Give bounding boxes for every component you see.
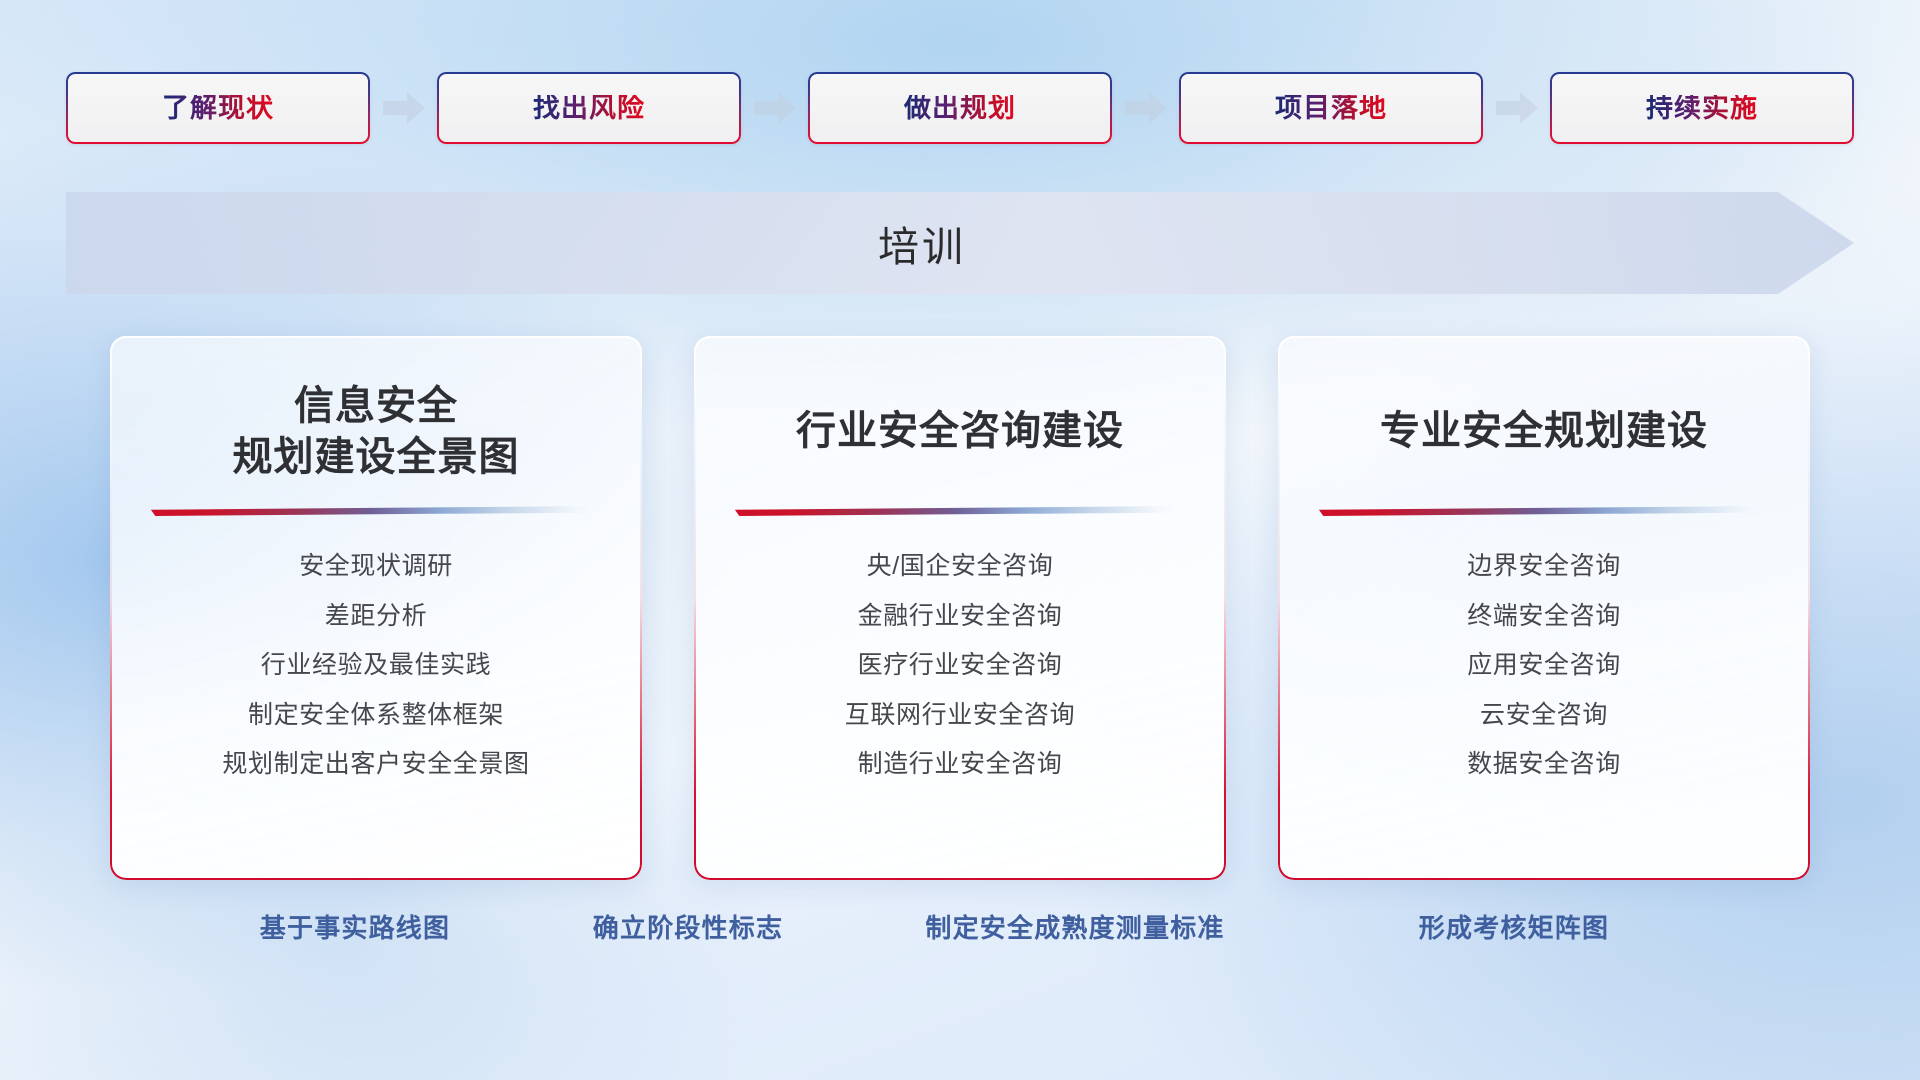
banner-title: 培训 (66, 192, 1778, 294)
footer-label-maturity: 制定安全成熟度测量标准 (925, 908, 1224, 945)
card-item-list: 安全现状调研 差距分析 行业经验及最佳实践 制定安全体系整体框架 规划制定出客户… (136, 550, 616, 782)
list-item: 央/国企安全咨询 (867, 550, 1054, 584)
card-divider-bar (150, 506, 592, 516)
step-chip-5[interactable]: 持续实施 (1550, 72, 1854, 144)
step-arrow-icon-3 (1125, 91, 1167, 125)
card-item-list: 边界安全咨询 终端安全咨询 应用安全咨询 云安全咨询 数据安全咨询 (1304, 550, 1784, 782)
step-chip-2[interactable]: 找出风险 (437, 72, 741, 144)
training-banner: 培训 (66, 192, 1854, 294)
footer-label-roadmap: 基于事实路线图 (260, 908, 450, 945)
list-item: 制造行业安全咨询 (858, 748, 1063, 782)
footer-label-matrix: 形成考核矩阵图 (1419, 908, 1609, 945)
footer-label-milestones: 确立阶段性标志 (593, 908, 783, 945)
card-row: 信息安全 规划建设全景图 安全现状调研 差距分析 行业经验及最佳实践 制定安全体… (110, 336, 1810, 880)
list-item: 行业经验及最佳实践 (261, 649, 491, 683)
step-arrow-icon-1 (383, 91, 425, 125)
card-title-line: 行业安全咨询建设 (720, 406, 1200, 457)
card-divider-bar (734, 506, 1176, 516)
card-panorama[interactable]: 信息安全 规划建设全景图 安全现状调研 差距分析 行业经验及最佳实践 制定安全体… (110, 336, 642, 880)
footer-label-row: 基于事实路线图 确立阶段性标志 制定安全成熟度测量标准 形成考核矩阵图 (110, 908, 1810, 956)
card-title: 信息安全 规划建设全景图 (136, 380, 616, 484)
infographic-canvas: 了解现状 找出风险 做出规划 项目落地 (0, 0, 1920, 1080)
card-title-line: 专业安全规划建设 (1304, 406, 1784, 457)
step-label: 项目落地 (1275, 95, 1387, 122)
card-divider-bar (1318, 506, 1760, 516)
step-chip-4[interactable]: 项目落地 (1179, 72, 1483, 144)
list-item: 终端安全咨询 (1467, 600, 1621, 634)
step-arrow-icon-4 (1496, 91, 1538, 125)
card-title: 专业安全规划建设 (1304, 380, 1784, 484)
card-divider (150, 506, 592, 516)
step-label: 了解现状 (162, 95, 274, 122)
card-professional-planning[interactable]: 专业安全规划建设 边界安全咨询 终端安全咨询 应用安全咨询 云安全咨询 数据安全… (1278, 336, 1810, 880)
step-label: 持续实施 (1646, 95, 1758, 122)
step-label: 做出规划 (904, 95, 1016, 122)
step-arrow-icon-2 (754, 91, 796, 125)
card-title-line: 信息安全 (136, 381, 616, 432)
step-chip-1[interactable]: 了解现状 (66, 72, 370, 144)
list-item: 数据安全咨询 (1467, 748, 1621, 782)
card-title-line: 规划建设全景图 (136, 432, 616, 483)
list-item: 云安全咨询 (1480, 699, 1608, 733)
process-step-row: 了解现状 找出风险 做出规划 项目落地 (66, 72, 1854, 144)
list-item: 安全现状调研 (299, 550, 453, 584)
list-item: 制定安全体系整体框架 (248, 699, 504, 733)
list-item: 边界安全咨询 (1467, 550, 1621, 584)
card-title: 行业安全咨询建设 (720, 380, 1200, 484)
list-item: 差距分析 (325, 600, 427, 634)
card-divider (1318, 506, 1760, 516)
card-industry-consulting[interactable]: 行业安全咨询建设 央/国企安全咨询 金融行业安全咨询 医疗行业安全咨询 互联网行… (694, 336, 1226, 880)
card-item-list: 央/国企安全咨询 金融行业安全咨询 医疗行业安全咨询 互联网行业安全咨询 制造行… (720, 550, 1200, 782)
list-item: 金融行业安全咨询 (858, 600, 1063, 634)
list-item: 规划制定出客户安全全景图 (222, 748, 529, 782)
step-chip-3[interactable]: 做出规划 (808, 72, 1112, 144)
list-item: 应用安全咨询 (1467, 649, 1621, 683)
step-label: 找出风险 (533, 95, 645, 122)
list-item: 互联网行业安全咨询 (845, 699, 1075, 733)
card-divider (734, 506, 1176, 516)
list-item: 医疗行业安全咨询 (858, 649, 1063, 683)
